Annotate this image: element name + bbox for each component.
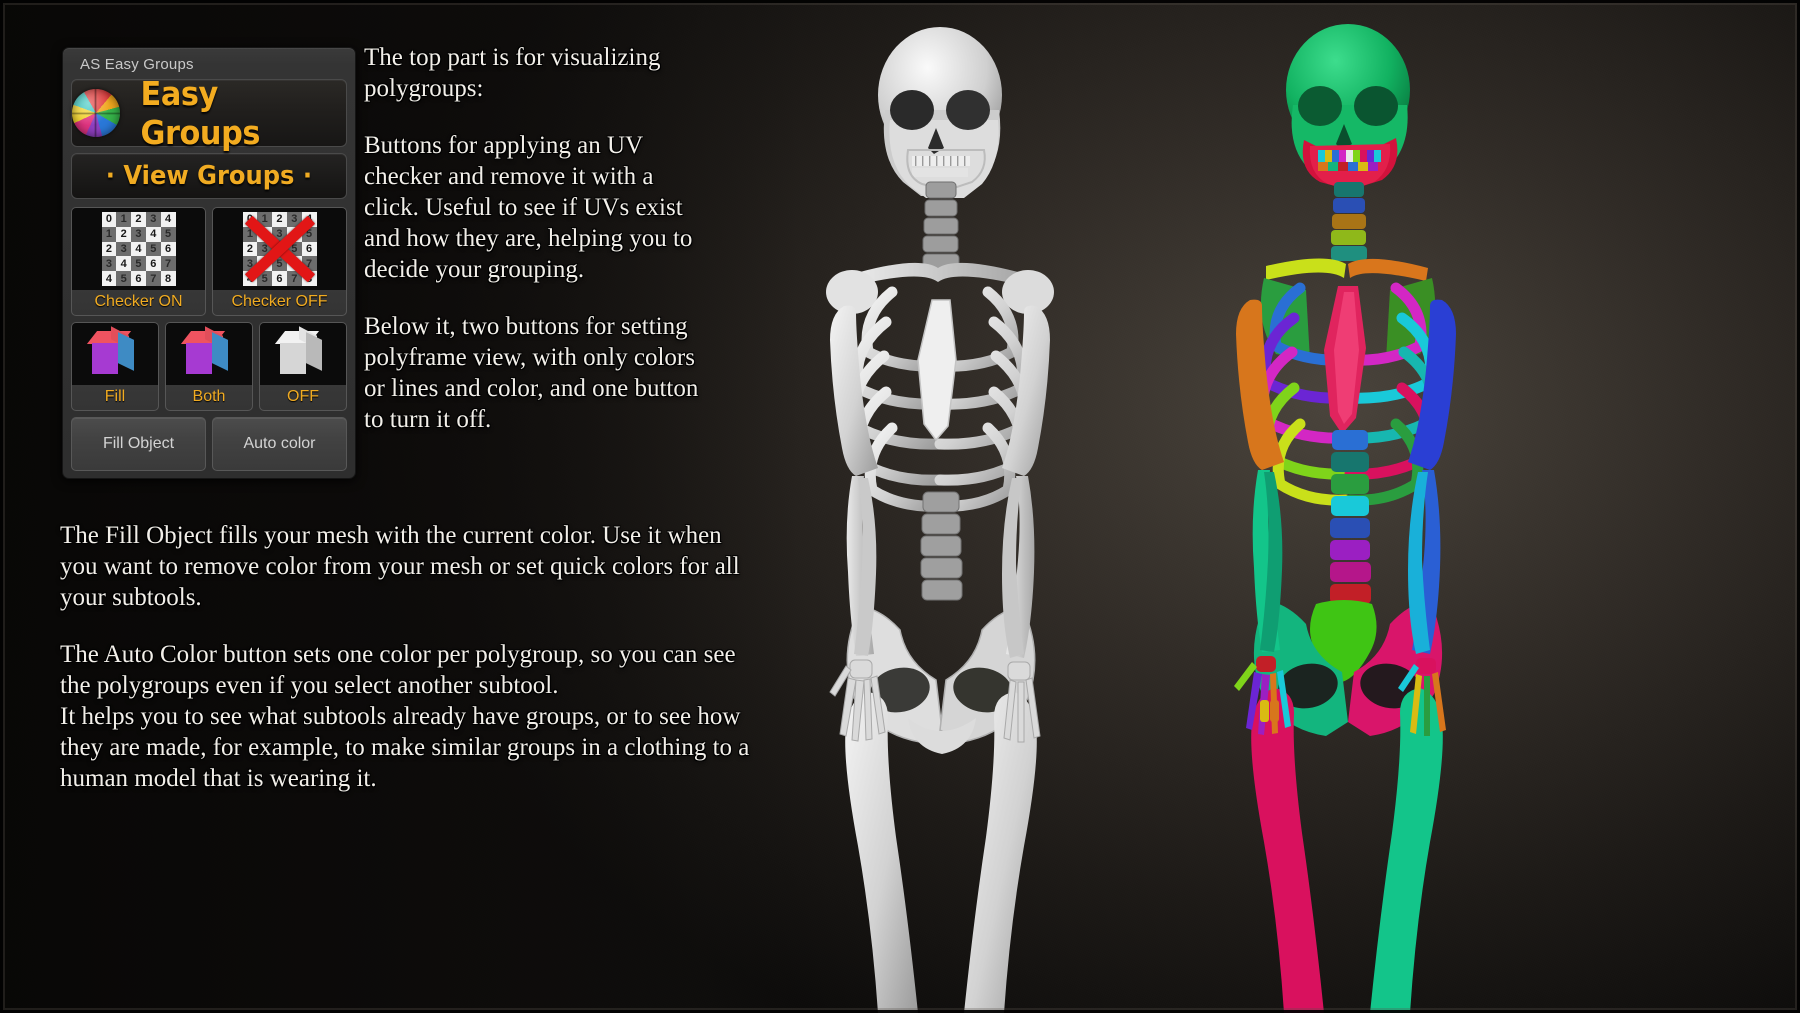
skeleton-artwork xyxy=(740,0,1800,1013)
color-sphere-icon xyxy=(72,89,120,137)
prose-upper-right: The top part is for visualizing polygrou… xyxy=(364,42,714,435)
prose-paragraph: The Fill Object fills your mesh with the… xyxy=(60,520,760,613)
grey-cube-icon xyxy=(260,323,346,385)
prose-paragraph: The Auto Color button sets one color per… xyxy=(60,639,760,701)
colored-cube-wire-icon xyxy=(166,323,252,385)
fill-object-button[interactable]: Fill Object xyxy=(71,417,206,471)
checker-cell: 2 xyxy=(116,227,131,242)
uv-checker-grid-crossed-icon: 0123412345234563456745678 xyxy=(213,208,346,290)
checker-cell: 7 xyxy=(161,256,176,271)
checker-cell: 0 xyxy=(102,212,117,227)
checker-cell: 3 xyxy=(102,256,117,271)
checker-cell: 4 xyxy=(146,227,161,242)
fill-object-label: Fill Object xyxy=(103,435,174,453)
prose-paragraph: It helps you to see what subtools alread… xyxy=(60,701,760,794)
checker-cell: 7 xyxy=(146,271,161,286)
view-groups-label: · View Groups · xyxy=(106,161,312,191)
checker-cell: 4 xyxy=(116,256,131,271)
checker-cell: 1 xyxy=(116,212,131,227)
checker-cell: 5 xyxy=(146,242,161,257)
polyframe-button-row: Fill Both OFF xyxy=(71,322,347,411)
red-cross-icon xyxy=(237,207,323,292)
checker-cell: 8 xyxy=(161,271,176,286)
screenshot-root: AS Easy Groups Easy Groups · View Groups… xyxy=(0,0,1800,1013)
checker-on-button[interactable]: 0123412345234563456745678 Checker ON xyxy=(71,207,206,316)
checker-cell: 4 xyxy=(102,271,117,286)
checker-cell: 6 xyxy=(161,242,176,257)
view-groups-header[interactable]: · View Groups · xyxy=(71,153,347,199)
uv-checker-grid-icon: 0123412345234563456745678 xyxy=(72,208,205,290)
prose-paragraph: Below it, two buttons for setting polyfr… xyxy=(364,311,714,435)
easy-groups-panel: AS Easy Groups Easy Groups · View Groups… xyxy=(62,47,356,479)
polyframe-off-label: OFF xyxy=(260,385,346,410)
auto-color-label: Auto color xyxy=(243,435,315,453)
checker-cell: 6 xyxy=(131,271,146,286)
grey-skeleton xyxy=(826,27,1054,1013)
checker-cell: 1 xyxy=(102,227,117,242)
checker-button-row: 0123412345234563456745678 Checker ON 012… xyxy=(71,207,347,316)
easy-groups-logo-button[interactable]: Easy Groups xyxy=(71,79,347,147)
action-button-row: Fill Object Auto color xyxy=(71,417,347,471)
checker-cell: 6 xyxy=(146,256,161,271)
checker-cell: 5 xyxy=(116,271,131,286)
checker-cell: 2 xyxy=(131,212,146,227)
polyframe-both-label: Both xyxy=(166,385,252,410)
prose-paragraph: Buttons for applying an UV checker and r… xyxy=(364,130,714,285)
prose-lower-left: The Fill Object fills your mesh with the… xyxy=(60,520,760,794)
colored-cube-icon xyxy=(72,323,158,385)
checker-cell: 3 xyxy=(131,227,146,242)
checker-on-label: Checker ON xyxy=(72,290,205,315)
easy-groups-logo-label: Easy Groups xyxy=(141,74,338,152)
checker-off-button[interactable]: 0123412345234563456745678 Checker OFF xyxy=(212,207,347,316)
polyframe-both-button[interactable]: Both xyxy=(165,322,253,411)
checker-cell: 3 xyxy=(116,242,131,257)
checker-cell: 2 xyxy=(102,242,117,257)
polyframe-off-button[interactable]: OFF xyxy=(259,322,347,411)
prose-paragraph: The top part is for visualizing polygrou… xyxy=(364,42,714,104)
skeleton-illustration xyxy=(740,0,1800,1013)
checker-cell: 4 xyxy=(131,242,146,257)
checker-cell: 5 xyxy=(131,256,146,271)
auto-color-button[interactable]: Auto color xyxy=(212,417,347,471)
checker-cell: 5 xyxy=(161,227,176,242)
checker-cell: 4 xyxy=(161,212,176,227)
polyframe-fill-button[interactable]: Fill xyxy=(71,322,159,411)
polyframe-fill-label: Fill xyxy=(72,385,158,410)
polygroup-colored-skeleton xyxy=(1234,24,1456,1013)
checker-off-label: Checker OFF xyxy=(213,290,346,315)
checker-cell: 3 xyxy=(146,212,161,227)
